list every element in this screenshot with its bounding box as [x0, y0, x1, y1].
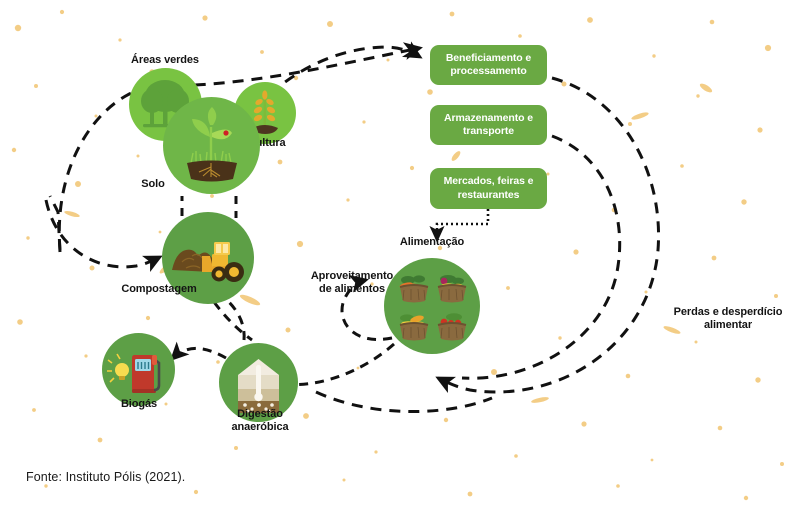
node-label-areas-verdes: Áreas verdes	[91, 54, 239, 67]
edge-alimentacao-bottom-return	[316, 392, 492, 412]
node-label-biogas: Biogás	[96, 398, 182, 411]
flow-box-beneficiamento[interactable]: Beneficiamento e processamento	[430, 45, 547, 85]
node-label-alimentacao: Alimentação	[382, 236, 482, 249]
node-label-digestao: Digestão anaeróbica	[214, 408, 306, 434]
edge-digestao-to-biogas	[172, 348, 226, 359]
edge-label-aproveitamento: Aproveitamento de alimentos	[290, 270, 414, 296]
flow-box-armazenamento[interactable]: Armazenamento e transporte	[430, 105, 547, 145]
edge-label-perdas: Perdas e desperdício alimentar	[660, 306, 796, 332]
node-circle-biogas[interactable]	[102, 333, 175, 406]
node-label-solo: Solo	[113, 178, 193, 191]
flow-edges-layer	[0, 0, 800, 510]
diagram-canvas: Beneficiamento e processamento Armazenam…	[0, 0, 800, 510]
flow-box-mercados[interactable]: Mercados, feiras e restaurantes	[430, 168, 547, 209]
edge-cycle-to-compostagem	[46, 200, 160, 267]
fuel-pump-bulb-icon	[102, 333, 175, 406]
node-label-compostagem: Compostagem	[104, 283, 214, 296]
source-note: Fonte: Instituto Pólis (2021).	[26, 470, 185, 484]
